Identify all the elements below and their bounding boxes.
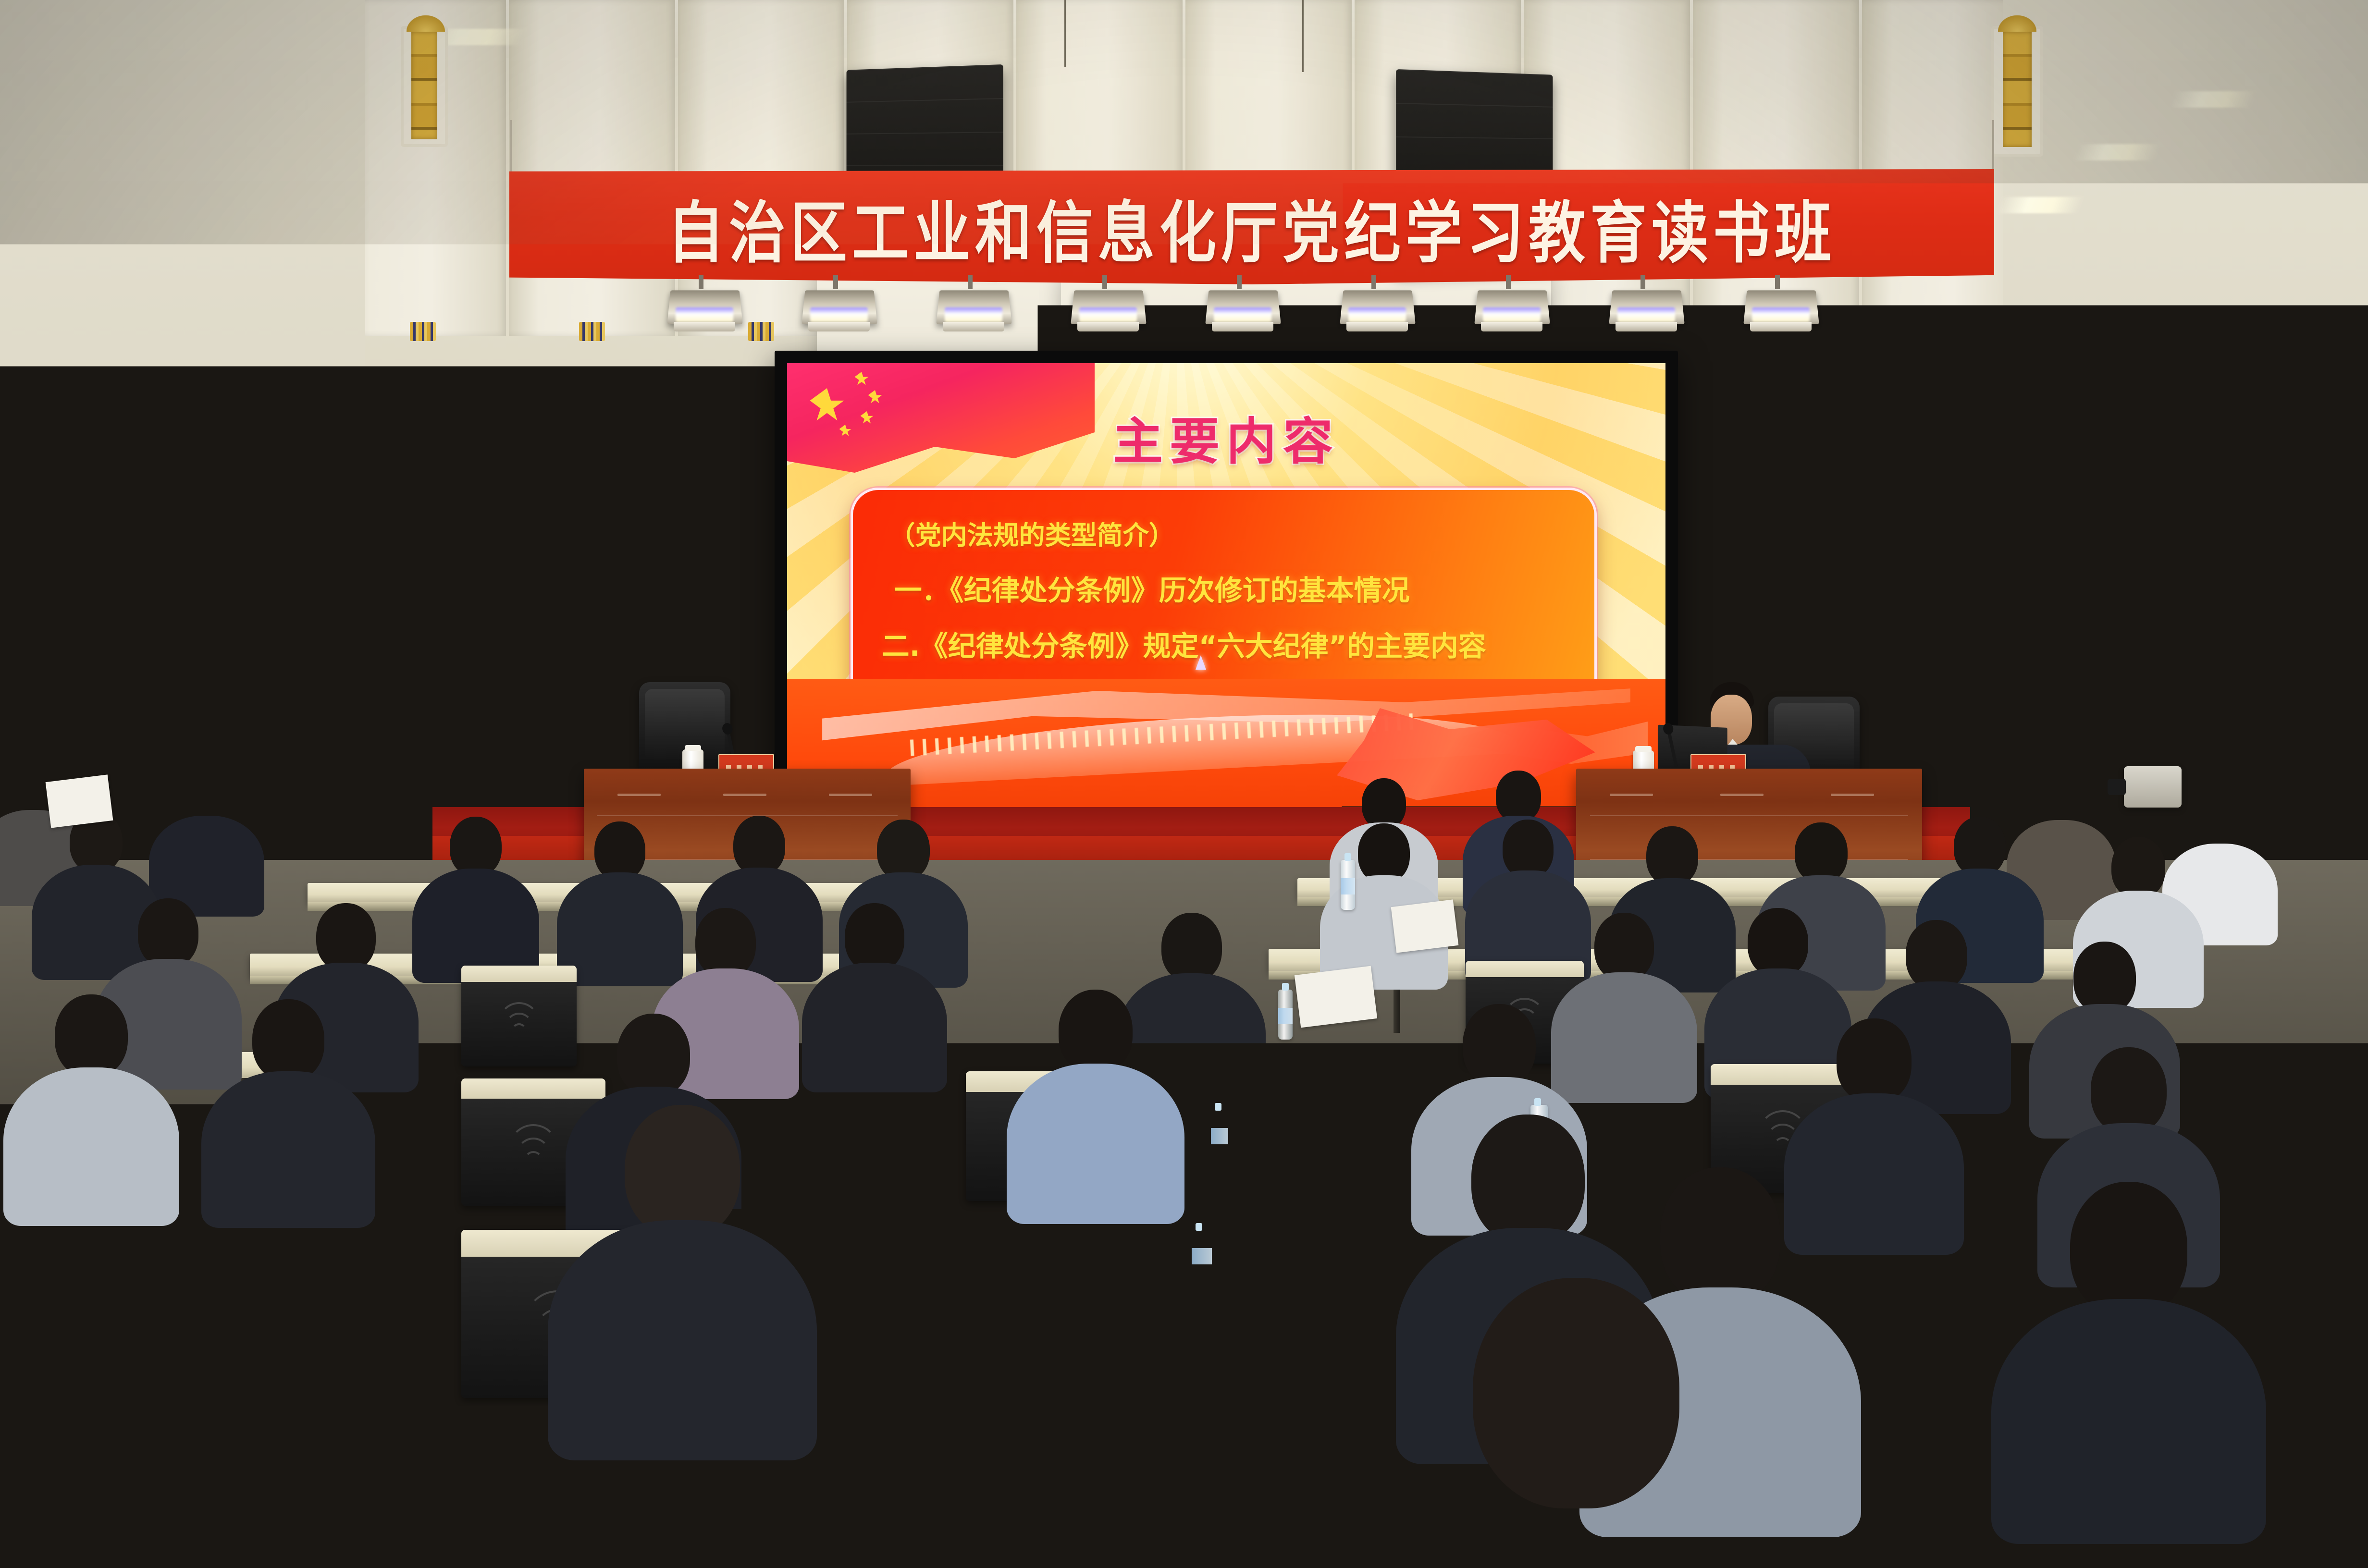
podium-handle	[1831, 794, 1874, 796]
attendee-head	[1358, 823, 1410, 883]
speaker-suspension-wire	[1064, 0, 1066, 67]
gold-ornament-strip	[411, 32, 437, 139]
slide-title: 主要内容	[787, 401, 1665, 473]
handout-paper	[1391, 899, 1459, 953]
banner-title: 自治区工业和信息化厅党纪学习教育读书班	[667, 178, 1836, 275]
attendee-head	[625, 1105, 740, 1237]
recess-downlight	[159, 552, 202, 562]
attendee-head	[1594, 913, 1654, 981]
attendee-head	[2091, 1047, 2167, 1134]
attendee-head	[450, 817, 502, 876]
attendee-body	[1784, 1093, 1964, 1255]
attendee-head	[2070, 1182, 2187, 1316]
gold-ornament-strip	[2003, 32, 2032, 147]
ceiling-tube-light	[1996, 197, 2084, 213]
wifi-logo-icon	[494, 1124, 572, 1183]
desk-leg	[2018, 1071, 2027, 1148]
attendee-head	[1463, 1004, 1536, 1087]
stage-floodlight	[798, 288, 884, 341]
recess-downlight	[288, 584, 332, 593]
attendee-head	[183, 769, 230, 822]
ceiling-tube-light	[2169, 91, 2257, 108]
podium-handle	[829, 794, 872, 796]
handout-paper	[46, 774, 113, 828]
seat-top-trim	[1711, 1064, 1855, 1085]
exit-sign-label-cn: 安全出口	[453, 498, 479, 518]
notebook	[1033, 1249, 1105, 1299]
attendee-head	[733, 816, 785, 875]
attendee-head	[1906, 920, 1967, 990]
attendee-head	[316, 903, 376, 971]
auditorium-seat	[461, 966, 577, 1066]
mouse-cursor-icon	[1196, 655, 1206, 670]
desk-leg	[1326, 1071, 1335, 1148]
podium-seam	[597, 815, 898, 816]
attendee-body	[548, 1220, 817, 1460]
wall-panel	[509, 0, 675, 336]
led-screen-bezel: 主要内容 （党内法规的类型简介） 一．《纪律处分条例》历次修订的基本情况 二.《…	[775, 351, 1678, 836]
attendee-body	[201, 1071, 375, 1228]
attendee-head	[1059, 990, 1133, 1073]
seat-top-trim	[461, 1078, 605, 1099]
attendee-head	[1795, 822, 1848, 883]
stage-floodlight	[1739, 288, 1826, 341]
stage-floodlight	[1605, 288, 1691, 341]
water-bottle	[1192, 1230, 1212, 1302]
attendee-head	[1748, 908, 1808, 977]
exit-sign: 安全出口 EXIT	[452, 496, 513, 520]
water-bottle	[1278, 990, 1293, 1040]
attendee-head	[1161, 913, 1222, 982]
attendee-head	[594, 821, 645, 880]
stage-floodlight	[1470, 288, 1557, 341]
desk-leg	[817, 1217, 827, 1313]
ceiling-tube-light	[2073, 144, 2160, 160]
stage-floodlight	[1201, 288, 1288, 341]
slide-item-2: 二.《纪律处分条例》规定“六大纪律”的主要内容	[882, 629, 1566, 663]
attendee-head	[1471, 1115, 1585, 1244]
attendee-body	[802, 963, 947, 1092]
conference-hall-photo: 安全出口 EXIT 自治区工业和信息化厅党纪学习教育读书班	[0, 0, 2368, 1568]
video-camera	[2124, 766, 2182, 808]
banner-rope	[510, 120, 512, 178]
stage-floodlight	[1067, 288, 1153, 341]
water-bottle	[1211, 1110, 1228, 1170]
attendee-head	[845, 903, 904, 971]
attendee-head	[695, 908, 756, 977]
attendee-head	[2073, 942, 2136, 1014]
attendee-head	[1837, 1018, 1912, 1103]
attendee-head	[1503, 820, 1554, 878]
attendee-head	[252, 999, 324, 1081]
desk-leg	[1269, 1203, 1279, 1299]
banner-rope	[1992, 120, 1994, 178]
attendee-head	[617, 1014, 690, 1096]
attendee-head	[55, 994, 128, 1077]
emergency-light	[418, 452, 477, 470]
attendee-head	[82, 1254, 284, 1480]
stage-floodlight	[932, 288, 1019, 341]
attendee-head	[2111, 837, 2165, 898]
speaker-suspension-wire	[1302, 0, 1304, 72]
seat-top-trim	[461, 966, 577, 982]
attendee-body	[1991, 1299, 2266, 1544]
slide-intro-line: （党内法规的类型简介）	[889, 520, 1566, 551]
stage-light-bar	[663, 288, 1826, 346]
exit-sign-label-en: EXIT	[498, 504, 512, 512]
attendee-head	[1496, 771, 1541, 822]
water-bottle	[1341, 860, 1355, 910]
stage-floodlight	[663, 288, 750, 341]
flag-star-small	[854, 372, 869, 386]
podium-handle	[617, 794, 661, 796]
event-banner: 自治区工业和信息化厅党纪学习教育读书班	[509, 169, 1994, 284]
podium-handle	[723, 794, 766, 796]
wifi-logo-icon	[488, 1002, 550, 1049]
podium-seam	[1590, 815, 1908, 816]
stage-floodlight	[1336, 288, 1422, 341]
attendee-head	[1660, 1167, 1780, 1305]
podium-handle	[1720, 794, 1764, 796]
running-person-icon	[481, 499, 496, 516]
handout-paper	[1295, 966, 1377, 1028]
attendee-body	[1007, 1064, 1184, 1224]
podium-handle	[1610, 794, 1653, 796]
attendee-head	[1954, 817, 2006, 876]
attendee-head	[877, 820, 930, 880]
attendee-body	[1551, 972, 1697, 1103]
presentation-slide: 主要内容 （党内法规的类型简介） 一．《纪律处分条例》历次修订的基本情况 二.《…	[787, 363, 1665, 823]
attendee-head	[138, 898, 198, 968]
attendee-head	[1646, 826, 1698, 886]
seat-top-trim	[1466, 961, 1584, 977]
recess-downlight	[29, 519, 72, 528]
attendee-body	[3, 1067, 179, 1226]
slide-item-1: 一．《纪律处分条例》历次修订的基本情况	[894, 574, 1566, 608]
attendee-head	[1362, 778, 1406, 829]
attendee-head	[1473, 1278, 1679, 1508]
